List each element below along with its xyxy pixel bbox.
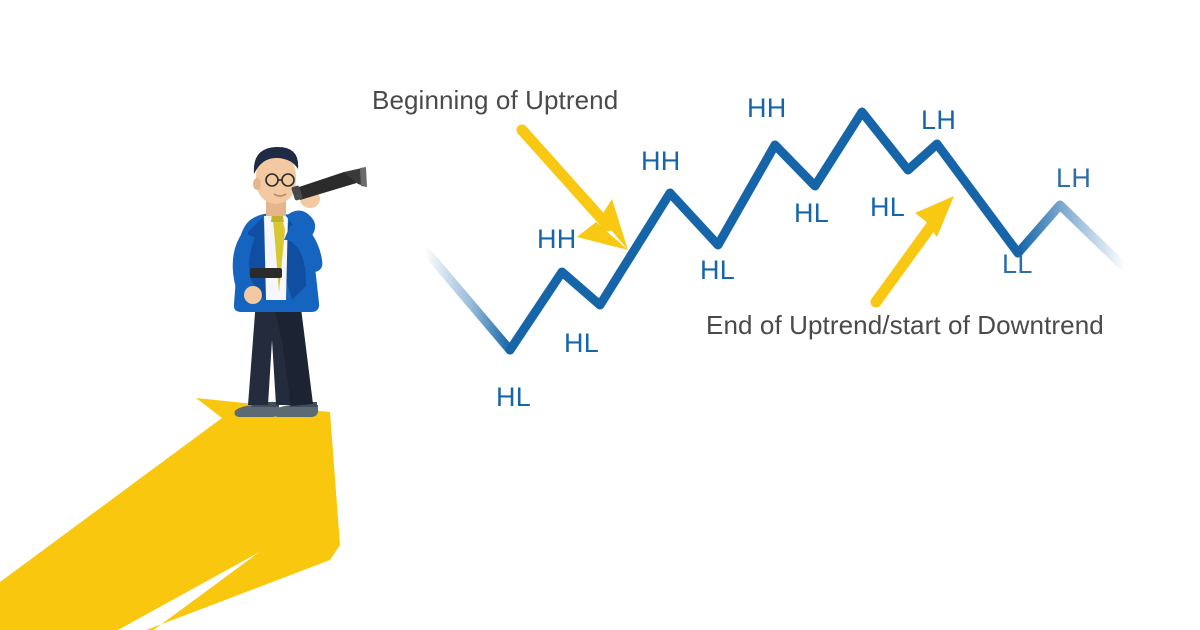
price-zigzag-line [425,112,1125,350]
trousers-icon [248,300,313,406]
beginning-of-uptrend-arrow-icon [522,130,628,250]
big-yellow-up-arrow-icon [0,398,340,630]
telescope-icon [291,167,367,201]
businessman-with-telescope-illustration [233,147,367,417]
end-of-uptrend-arrow-icon [876,196,954,302]
head-icon [253,147,298,216]
infographic-canvas: Beginning of Uptrend End of Uptrend/star… [0,0,1200,630]
illustration-scene [0,0,1200,630]
